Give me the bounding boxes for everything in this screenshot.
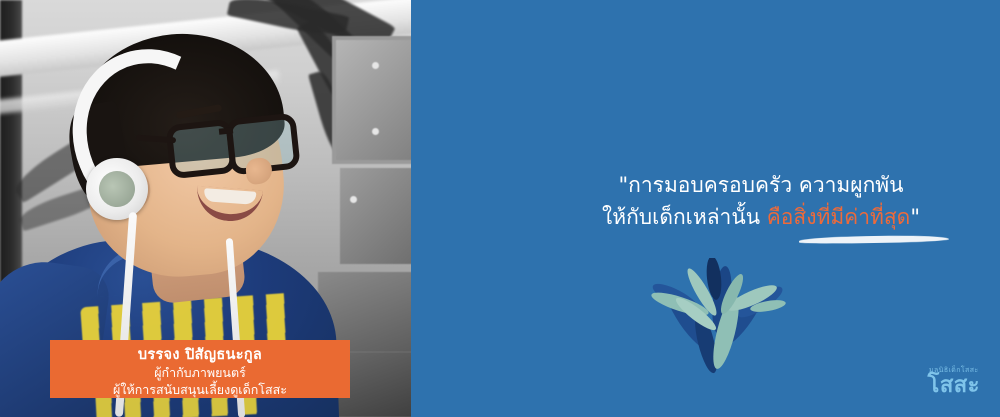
sos-logo[interactable]: มูลนิธิเด็กโสสะ โสสะ — [928, 367, 981, 397]
quote-panel: "การมอบครอบครัว ความผูกพัน ให้กับเด็กเหล… — [411, 0, 1000, 417]
speaker-name: บรรจง ปิสัญธนะกูล — [60, 346, 340, 365]
quote-block: "การมอบครอบครัว ความผูกพัน ให้กับเด็กเหล… — [531, 170, 991, 234]
quote-line-1: "การมอบครอบครัว ความผูกพัน — [531, 170, 991, 202]
quote-line-2-suffix: " — [910, 205, 920, 229]
speaker-name-card: บรรจง ปิสัญธนะกูล ผู้กำกับภาพยนตร์ ผู้ให… — [50, 340, 350, 398]
speaker-role-line-2: ผู้ให้การสนับสนุนเลี้ยงดูเด็กโสสะ — [60, 382, 340, 399]
speaker-role-line-1: ผู้กำกับภาพยนตร์ — [60, 365, 340, 382]
portrait-photo: บรรจง ปิสัญธนะกูล ผู้กำกับภาพยนตร์ ผู้ให… — [0, 0, 411, 417]
quote-underline-brushstroke — [799, 235, 949, 245]
logo-wordmark: โสสะ — [928, 375, 981, 397]
quote-line-2-prefix: ให้กับเด็กเหล่านั้น — [602, 205, 767, 229]
logo-top-text: มูลนิธิเด็กโสสะ — [928, 367, 981, 374]
plant-leaves-illustration — [636, 258, 796, 383]
quote-line-2: ให้กับเด็กเหล่านั้น คือสิ่งที่มีค่าที่สุ… — [531, 202, 991, 234]
quote-highlight: คือสิ่งที่มีค่าที่สุด — [767, 205, 911, 229]
banner: บรรจง ปิสัญธนะกูล ผู้กำกับภาพยนตร์ ผู้ให… — [0, 0, 1000, 417]
